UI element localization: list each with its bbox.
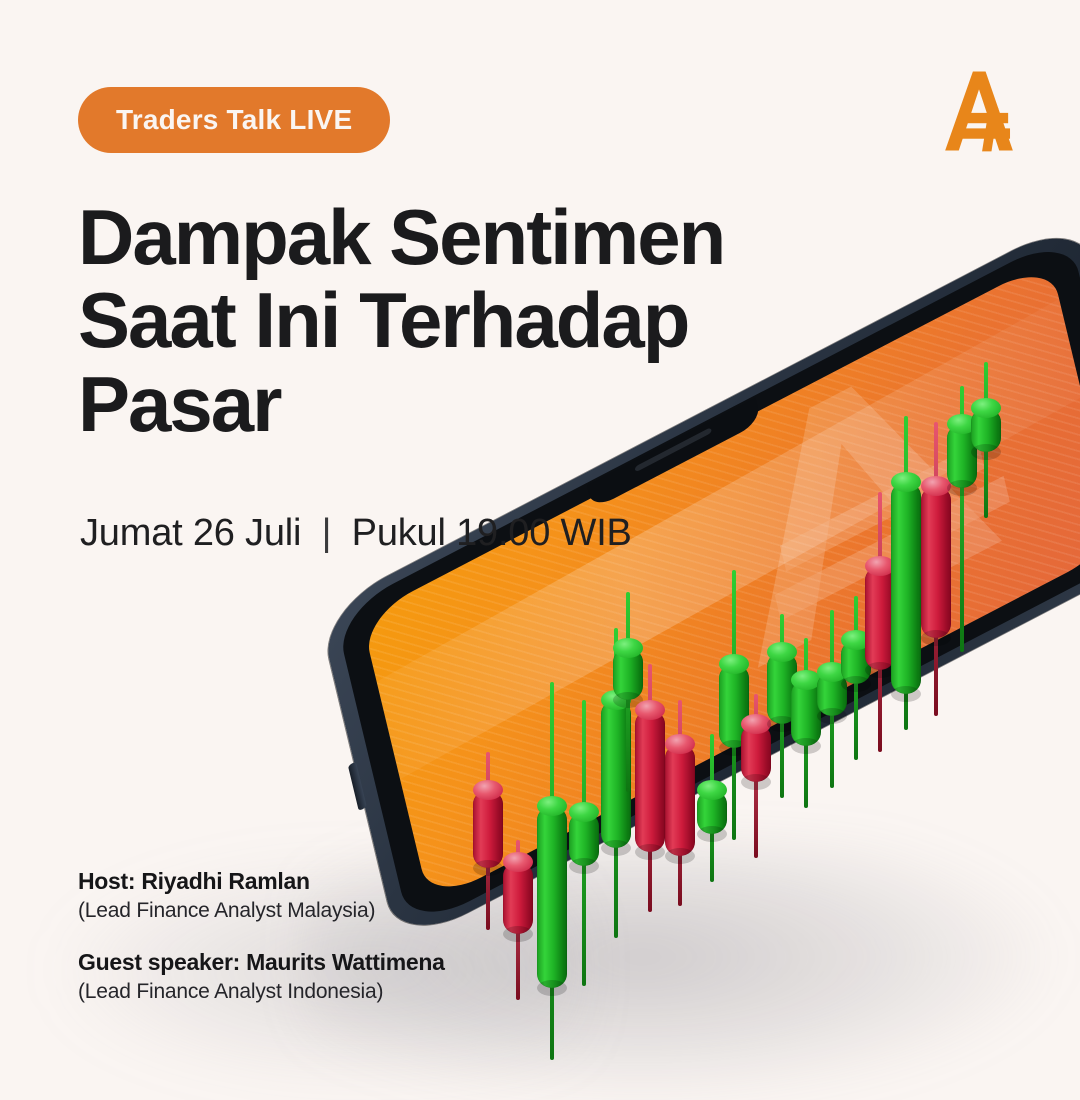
ascendex-a-logo [932, 62, 1026, 160]
candle-body [921, 486, 951, 638]
candle-body [473, 790, 503, 868]
candle-up [817, 610, 847, 788]
candle-bottom-shade [947, 480, 977, 496]
candle-top-cap [865, 556, 895, 576]
datetime-separator: | [312, 512, 342, 554]
candle-wick [780, 614, 784, 798]
candle-top-cap [665, 734, 695, 754]
candle-top-cap [569, 802, 599, 822]
candle-up [601, 628, 631, 938]
candle-bottom-shade [817, 708, 847, 724]
candle-body [719, 664, 749, 748]
candle-down [921, 422, 951, 716]
event-date: Jumat 26 Juli [80, 512, 301, 554]
credit-block: Host: Riyadhi Ramlan(Lead Finance Analys… [78, 868, 548, 923]
candle-wick [678, 700, 682, 906]
candle-body [741, 724, 771, 782]
candle-up [697, 734, 727, 882]
candle-wick [830, 610, 834, 788]
candle-bottom-shade [841, 676, 871, 692]
candle-up [767, 614, 797, 798]
candle-body [791, 680, 821, 746]
candle-top-cap [891, 472, 921, 492]
candle-body [947, 424, 977, 488]
candle-bottom-shade [865, 662, 895, 678]
candle-wick [550, 682, 554, 1060]
candle-down [665, 700, 695, 906]
candle-up [569, 700, 599, 986]
candle-wick [710, 734, 714, 882]
credit-role: (Lead Finance Analyst Indonesia) [78, 980, 548, 1004]
candle-top-cap [767, 642, 797, 662]
candle-top-cap [971, 398, 1001, 418]
page-title: Dampak Sentimen Saat Ini Terhadap Pasar [78, 196, 838, 446]
candle-up [841, 596, 871, 760]
candle-top-cap [741, 714, 771, 734]
candle-up [971, 362, 1001, 518]
candle-wick [754, 694, 758, 858]
candle-down [741, 694, 771, 858]
candle-top-cap [921, 476, 951, 496]
event-time: Pukul 19.00 WIB [352, 512, 632, 554]
candle-up [613, 592, 643, 792]
candle-top-cap [601, 690, 631, 710]
candle-wick [582, 700, 586, 986]
candle-wick [804, 638, 808, 808]
candle-up [791, 638, 821, 808]
credit-name: Host: Riyadhi Ramlan [78, 868, 548, 895]
candle-top-cap [697, 780, 727, 800]
candle-wick [626, 592, 630, 792]
credit-name: Guest speaker: Maurits Wattimena [78, 949, 548, 976]
candle-top-cap [817, 662, 847, 682]
candle-body [891, 482, 921, 694]
candle-wick [648, 664, 652, 912]
candle-bottom-shade [665, 848, 695, 864]
candle-top-cap [719, 654, 749, 674]
event-datetime: Jumat 26 Juli | Pukul 19.00 WIB [80, 512, 632, 555]
candle-top-cap [613, 638, 643, 658]
candle-bottom-shade [613, 692, 643, 708]
candle-body [865, 566, 895, 670]
candle-body [613, 648, 643, 700]
candle-wick [960, 386, 964, 652]
candle-wick [614, 628, 618, 938]
candle-up [891, 416, 921, 730]
live-badge-label: Traders Talk LIVE [116, 104, 352, 136]
candle-wick [904, 416, 908, 730]
candle-body [767, 652, 797, 724]
candle-body [601, 700, 631, 848]
credit-role: (Lead Finance Analyst Malaysia) [78, 899, 548, 923]
candle-bottom-shade [791, 738, 821, 754]
candle-bottom-shade [891, 686, 921, 702]
candle-top-cap [791, 670, 821, 690]
speaker-credits: Host: Riyadhi Ramlan(Lead Finance Analys… [78, 868, 548, 1030]
candle-body [817, 672, 847, 716]
candle-down [865, 492, 895, 752]
candle-bottom-shade [921, 630, 951, 646]
candle-body [841, 640, 871, 684]
candle-top-cap [841, 630, 871, 650]
candle-body [665, 744, 695, 856]
candle-top-cap [473, 780, 503, 800]
candle-up [719, 570, 749, 840]
candle-body [971, 408, 1001, 452]
candle-wick [934, 422, 938, 716]
candle-down [635, 664, 665, 912]
candle-wick [984, 362, 988, 518]
candle-up [947, 386, 977, 652]
candle-body [635, 710, 665, 852]
candle-bottom-shade [741, 774, 771, 790]
candle-wick [732, 570, 736, 840]
candle-bottom-shade [697, 826, 727, 842]
candle-top-cap [635, 700, 665, 720]
candle-bottom-shade [569, 858, 599, 874]
candle-bottom-shade [971, 444, 1001, 460]
candle-top-cap [947, 414, 977, 434]
candle-bottom-shade [601, 840, 631, 856]
candle-wick [854, 596, 858, 760]
live-badge: Traders Talk LIVE [78, 87, 390, 153]
phone-side-button [348, 761, 367, 811]
candle-wick [878, 492, 882, 752]
candle-body [569, 812, 599, 866]
candle-top-cap [537, 796, 567, 816]
candle-bottom-shade [719, 740, 749, 756]
candle-bottom-shade [767, 716, 797, 732]
candle-body [697, 790, 727, 834]
credit-block: Guest speaker: Maurits Wattimena(Lead Fi… [78, 949, 548, 1004]
candle-bottom-shade [635, 844, 665, 860]
